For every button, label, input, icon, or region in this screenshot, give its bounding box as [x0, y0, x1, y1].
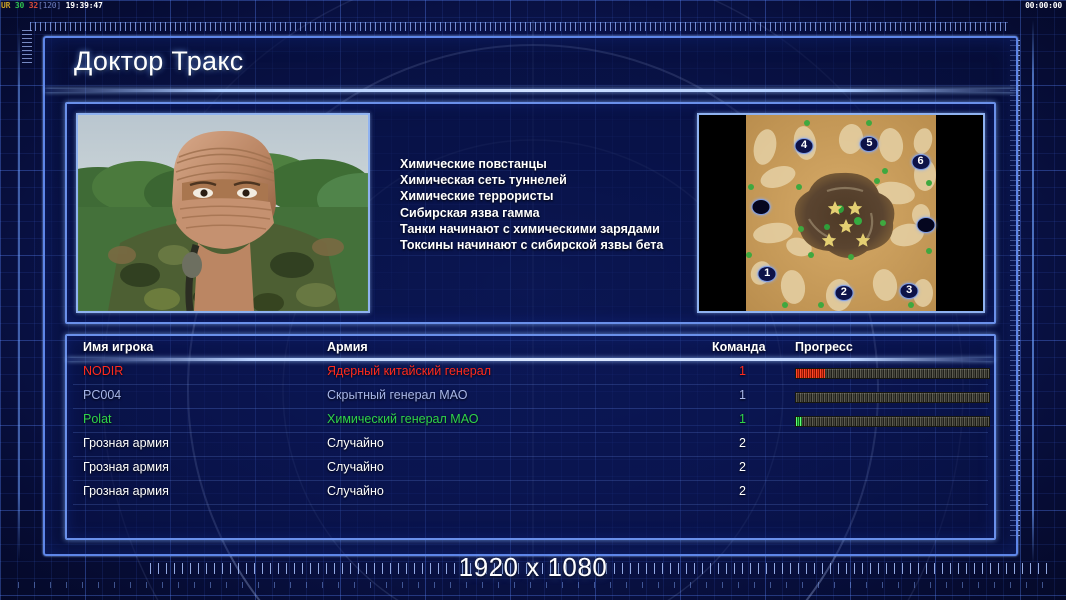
start-position-marker[interactable]: 4: [795, 138, 814, 154]
start-position-marker[interactable]: 6: [911, 154, 930, 170]
start-position-label: 6: [917, 155, 923, 167]
player-name: Грозная армия: [83, 484, 169, 498]
briefing-line: Химическая сеть туннелей: [400, 172, 687, 188]
player-list-panel: Имя игрока Армия Команда Прогресс NODIR …: [65, 334, 996, 540]
start-position-label: 2: [841, 286, 847, 298]
top-status-bar: UR 30 32[120] 19:39:47 00:00:00: [0, 0, 1066, 12]
start-position-marker-empty[interactable]: [752, 199, 771, 215]
lobby-window: Доктор Тракс: [43, 36, 1018, 556]
progress-bar: [795, 368, 990, 379]
briefing-line: Химические террористы: [400, 188, 687, 204]
commander-portrait: [76, 113, 370, 313]
status-clock: 00:00:00: [1025, 0, 1062, 12]
portrait-image: [78, 115, 368, 311]
table-row[interactable]: Грозная армия Случайно 2: [67, 481, 994, 505]
progress-bar: [795, 392, 990, 403]
player-army: Химический генерал МАО: [327, 412, 478, 426]
player-team: 2: [739, 436, 746, 450]
column-header-army: Армия: [327, 340, 368, 354]
start-position-marker[interactable]: 2: [834, 285, 853, 301]
start-position-marker[interactable]: 1: [758, 266, 777, 282]
player-name: NODIR: [83, 364, 123, 378]
page-title: Доктор Тракс: [74, 46, 244, 76]
column-header-progress: Прогресс: [795, 340, 853, 354]
table-row[interactable]: PC004 Скрытный генерал МАО 1: [67, 385, 994, 409]
briefing-description: Химические повстанцы Химическая сеть тун…: [370, 156, 697, 253]
briefing-panel: Химические повстанцы Химическая сеть тун…: [65, 102, 996, 324]
status-time: 19:39:47: [66, 1, 103, 10]
table-row[interactable]: Грозная армия Случайно 2: [67, 457, 994, 481]
table-row[interactable]: NODIR Ядерный китайский генерал 1: [67, 361, 994, 385]
player-army: Ядерный китайский генерал: [327, 364, 491, 378]
map-preview-image: [699, 115, 983, 311]
player-army: Случайно: [327, 436, 384, 450]
row-divider: [73, 504, 988, 505]
progress-bar-fill: [796, 417, 802, 426]
player-name: Грозная армия: [83, 436, 169, 450]
player-name: PC004: [83, 388, 121, 402]
player-list-header: Имя игрока Армия Команда Прогресс: [67, 336, 994, 361]
player-army: Случайно: [327, 460, 384, 474]
table-row[interactable]: Polat Химический генерал МАО 1: [67, 409, 994, 433]
player-name: Polat: [83, 412, 112, 426]
progress-bar: [795, 416, 990, 427]
player-name: Грозная армия: [83, 460, 169, 474]
start-position-label: 5: [866, 137, 872, 149]
player-team: 1: [739, 412, 746, 426]
briefing-line: Токсины начинают с сибирской язвы бета: [400, 237, 687, 253]
player-team: 1: [739, 388, 746, 402]
player-team: 2: [739, 460, 746, 474]
start-position-label: 1: [764, 267, 770, 279]
frame-line-left: [18, 26, 20, 560]
player-army: Случайно: [327, 484, 384, 498]
briefing-line: Сибирская язва гамма: [400, 205, 687, 221]
frame-ruler-top: [30, 22, 1008, 31]
start-position-marker[interactable]: 5: [860, 136, 879, 152]
game-lobby-screen: UR 30 32[120] 19:39:47 00:00:00 Доктор Т…: [0, 0, 1066, 600]
start-position-label: 4: [801, 139, 807, 151]
start-position-marker-empty[interactable]: [917, 217, 936, 233]
status-value-2: 32: [29, 1, 38, 10]
column-header-name: Имя игрока: [83, 340, 153, 354]
start-position-label: 3: [906, 284, 912, 296]
player-team: 2: [739, 484, 746, 498]
status-value-1: 30: [15, 1, 24, 10]
resolution-overlay: 1920 x 1080: [0, 552, 1066, 583]
briefing-line: Танки начинают с химическими зарядами: [400, 221, 687, 237]
status-value-3: [120]: [38, 1, 61, 10]
status-left-group: UR 30 32[120] 19:39:47: [1, 0, 103, 12]
briefing-line: Химические повстанцы: [400, 156, 687, 172]
frame-line-right: [1032, 20, 1034, 564]
status-tag: UR: [1, 1, 10, 10]
column-header-team: Команда: [712, 340, 766, 354]
window-title-row: Доктор Тракс: [45, 38, 1016, 90]
table-row[interactable]: Грозная армия Случайно 2: [67, 433, 994, 457]
progress-bar-fill: [796, 369, 825, 378]
frame-ruler-left: [22, 30, 32, 66]
map-preview[interactable]: 4 5 6 1 2 3: [697, 113, 985, 313]
title-divider: [45, 89, 1016, 92]
start-position-marker[interactable]: 3: [900, 283, 919, 299]
player-army: Скрытный генерал МАО: [327, 388, 467, 402]
player-team: 1: [739, 364, 746, 378]
